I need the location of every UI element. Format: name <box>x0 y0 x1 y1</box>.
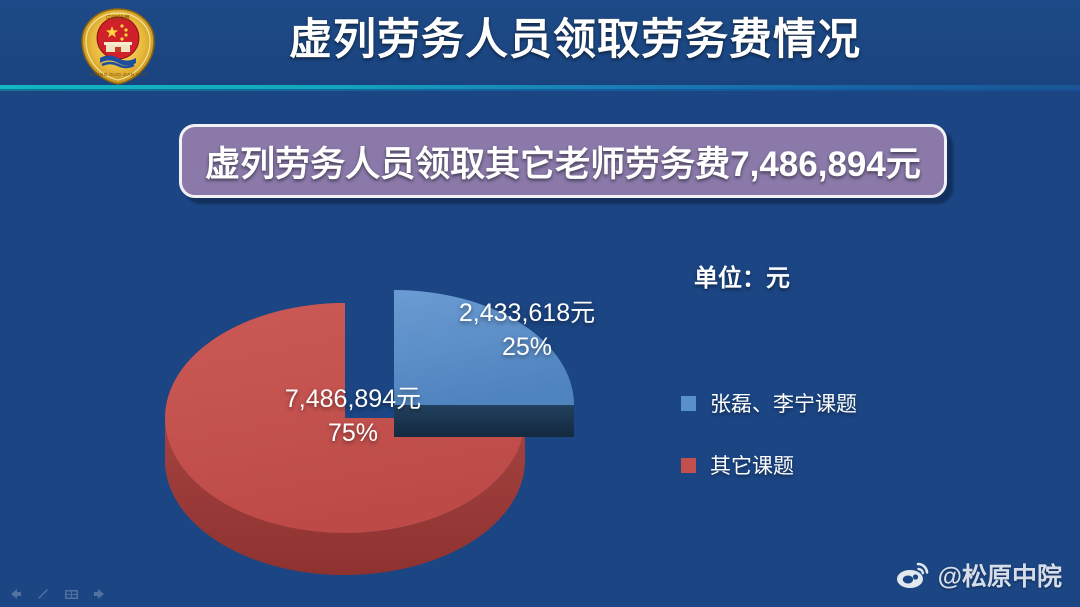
pie-label-red-percent: 75% <box>238 416 468 450</box>
watermark: @松原中院 <box>896 557 1062 593</box>
presenter-toolbar[interactable] <box>8 587 107 601</box>
weibo-icon <box>896 561 930 589</box>
slide-canvas: 中国检察 ZHONG GUO JIAN CHA 虚列劳务人员领取劳务费情况 虚列… <box>0 0 1080 607</box>
legend-item-red[interactable]: 其它课题 <box>681 450 981 480</box>
subtitle-text: 虚列劳务人员领取其它老师劳务费7,486,894元 <box>205 136 921 187</box>
pen-icon[interactable] <box>36 587 51 601</box>
watermark-handle: @松原中院 <box>938 557 1062 593</box>
header-accent-rule-secondary <box>0 89 1080 91</box>
legend-label-red: 其它课题 <box>710 450 794 480</box>
chart-legend: 张磊、李宁课题 其它课题 <box>681 388 981 512</box>
next-arrow-icon[interactable] <box>92 587 107 601</box>
legend-label-blue: 张磊、李宁课题 <box>710 388 857 418</box>
page-title: 虚列劳务人员领取劳务费情况 <box>0 7 1080 73</box>
subtitle-box: 虚列劳务人员领取其它老师劳务费7,486,894元 <box>179 124 947 198</box>
legend-swatch-red <box>681 458 696 473</box>
slide-grid-icon[interactable] <box>64 587 79 601</box>
pie-label-red-value: 7,486,894元 <box>238 382 468 416</box>
pie-label-red: 7,486,894元 75% <box>238 382 468 450</box>
pie-label-blue-value: 2,433,618元 <box>432 296 622 330</box>
pie-label-blue-percent: 25% <box>432 330 622 364</box>
legend-swatch-blue <box>681 396 696 411</box>
pie-label-blue: 2,433,618元 25% <box>432 296 622 364</box>
legend-item-blue[interactable]: 张磊、李宁课题 <box>681 388 981 418</box>
prev-arrow-icon[interactable] <box>8 587 23 601</box>
